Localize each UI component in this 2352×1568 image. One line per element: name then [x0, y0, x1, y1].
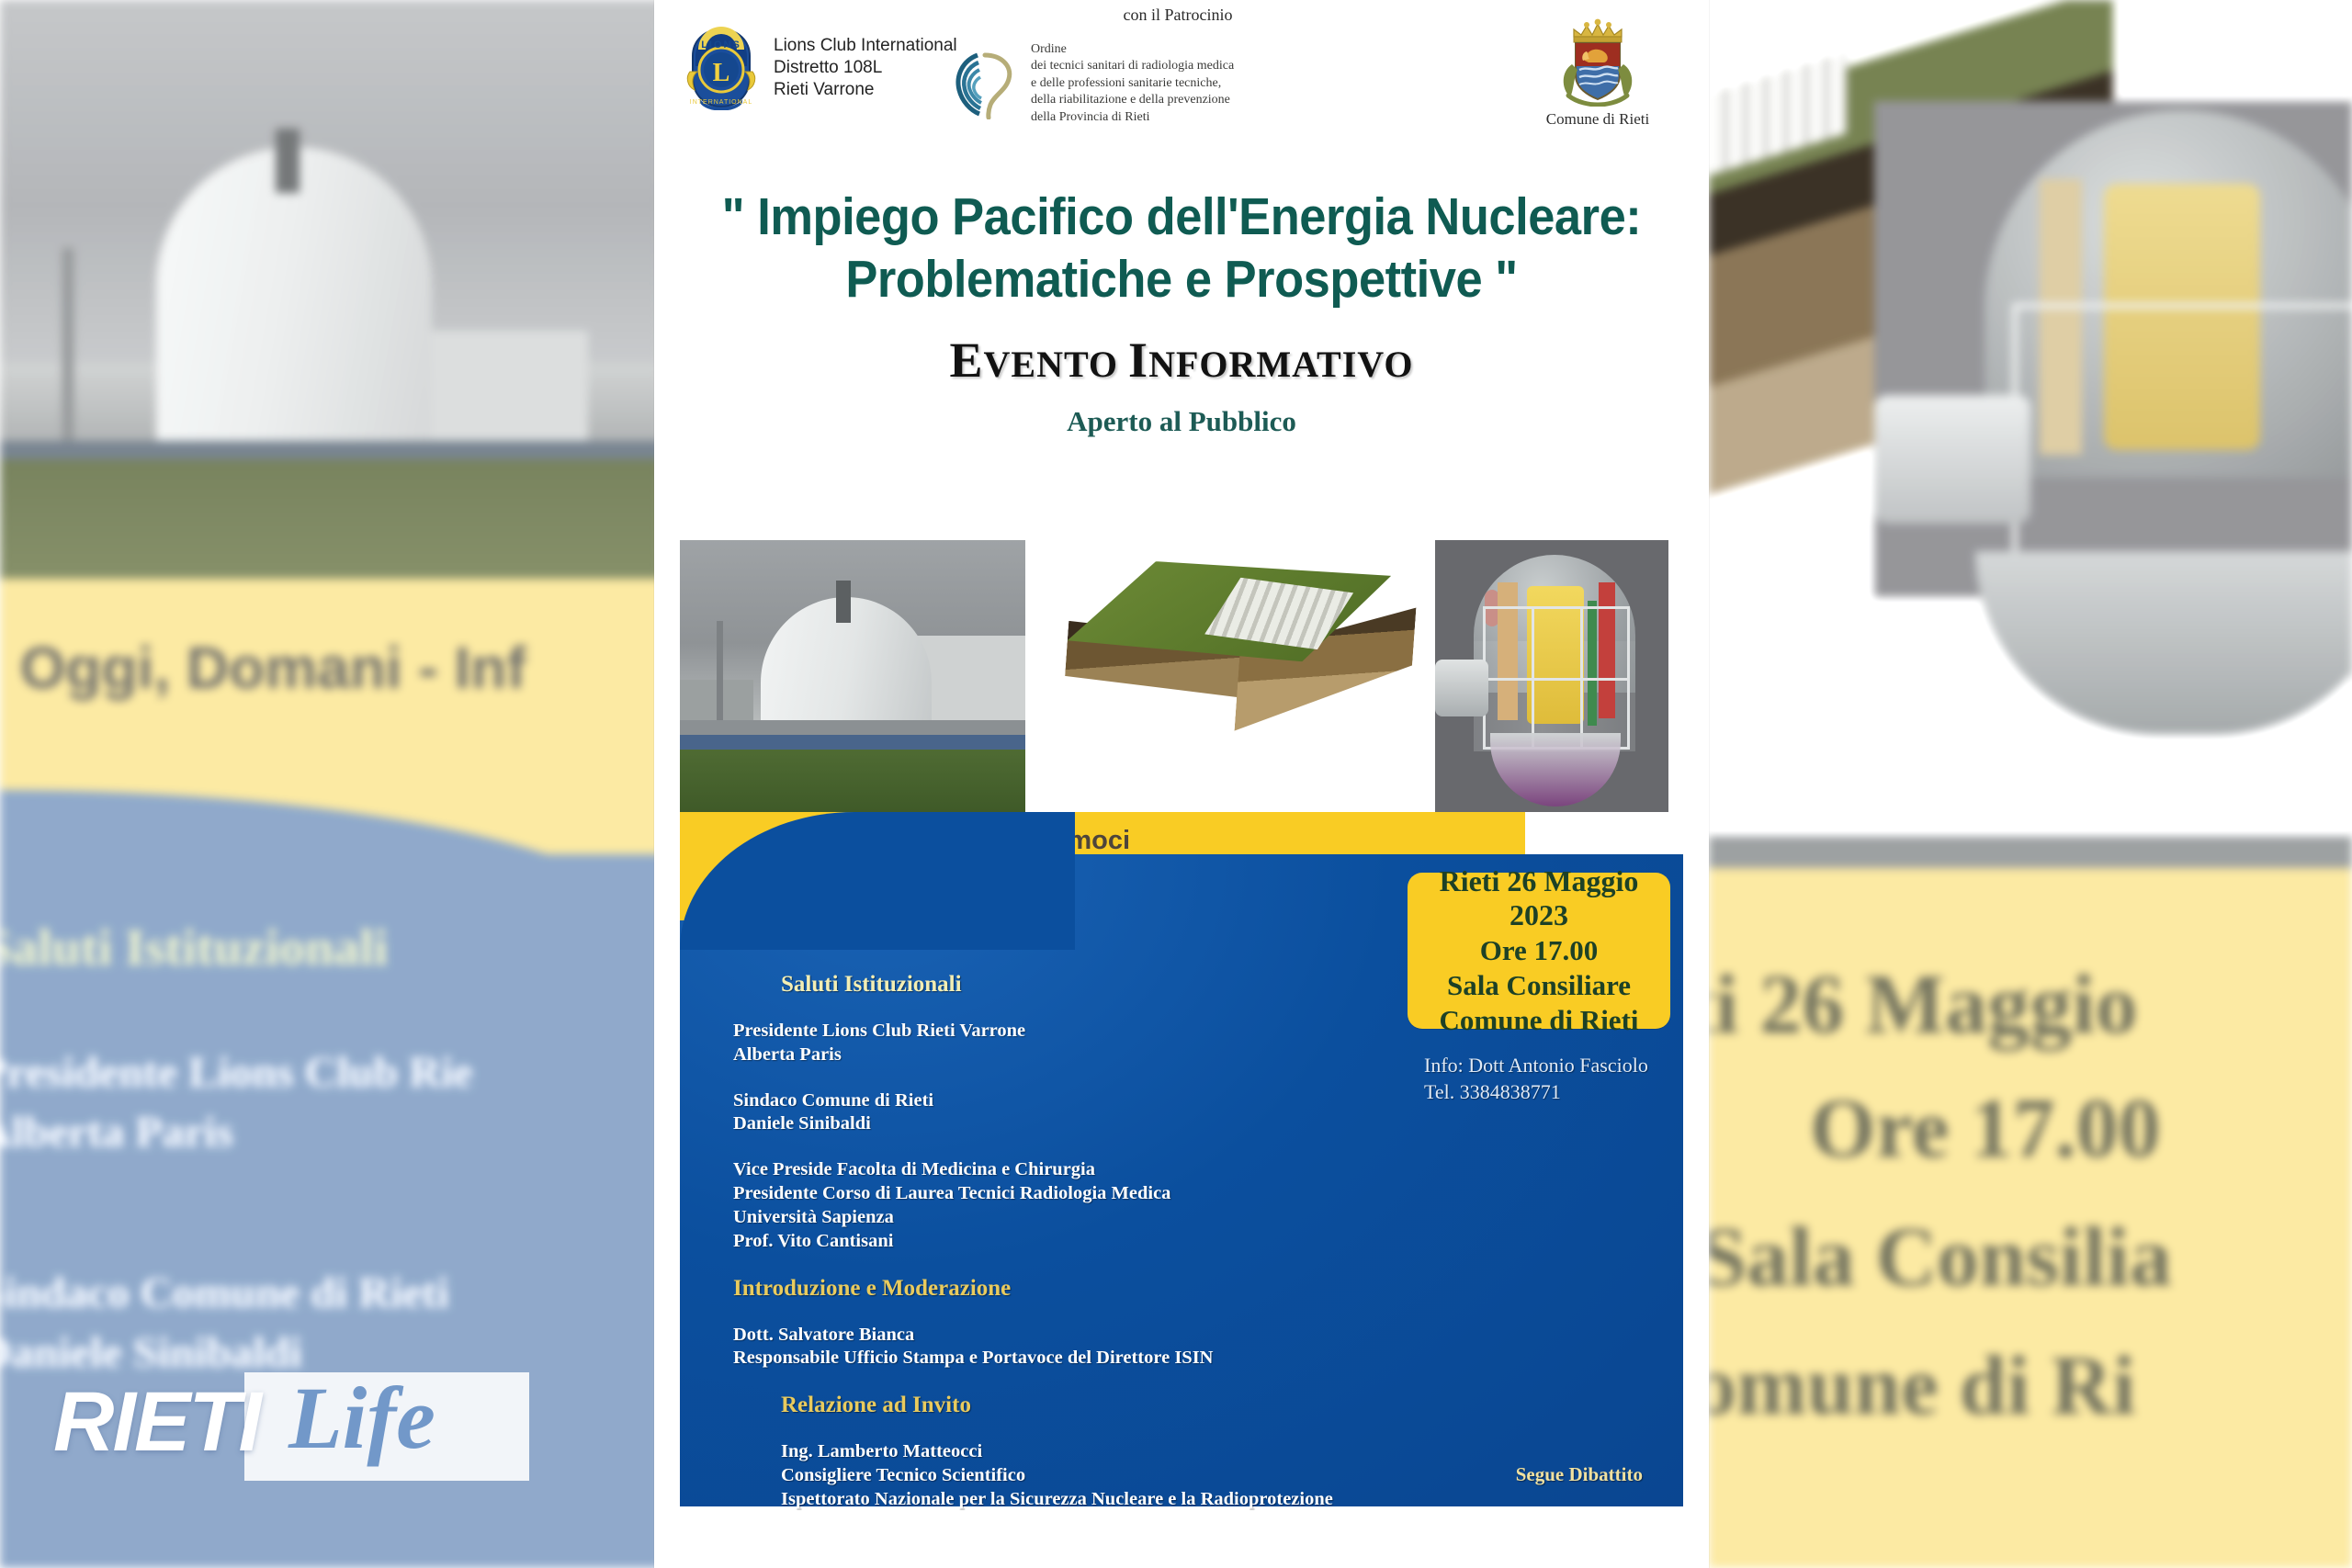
- entry-5-role-line-1: Consigliere Tecnico Scientifico: [781, 1464, 1395, 1488]
- programme-section-introduction: Introduzione e Moderazione: [733, 1276, 1395, 1302]
- watermark-script: Life: [288, 1367, 435, 1469]
- ordine-line-5: della Provincia di Rieti: [1031, 109, 1234, 126]
- entry-1-person: Alberta Paris: [733, 1043, 1395, 1067]
- event-venue-detail: Comune di Rieti: [1408, 1004, 1670, 1037]
- bg-left-line-1: Presidente Lions Club Rie: [0, 1047, 472, 1098]
- poster-title-block: " Impiego Pacifico dell'Energia Nucleare…: [654, 188, 1709, 438]
- event-type-label: EVENTO INFORMATIVO: [654, 332, 1709, 389]
- bg-right-line-1: ti 26 Maggio: [1709, 955, 2138, 1053]
- lions-club-emblem-icon: L LIONS INTERNATIONAL: [682, 26, 761, 110]
- poster-title-line-1: " Impiego Pacifico dell'Energia Nucleare…: [696, 188, 1667, 247]
- entry-4-person: Dott. Salvatore Bianca: [733, 1324, 1395, 1348]
- patrocinio-block: con il Patrocinio Ordine dei tecn: [930, 6, 1426, 126]
- entry-3-role-line-2: Presidente Corso di Laurea Tecnici Radio…: [733, 1182, 1395, 1206]
- programme-section-relazione: Relazione ad Invito: [733, 1393, 1395, 1418]
- reactor-vessel-cutaway: [1435, 540, 1668, 812]
- event-type-cap-1: E: [949, 333, 983, 388]
- background-left-blurred-poster: , Oggi, Domani - Inf Saluti Istituzional…: [0, 0, 661, 1568]
- reactor-coolant-nozzle: [1435, 660, 1488, 716]
- nuclear-power-plant-photo: [680, 540, 1025, 812]
- event-type-rest-2: NFORMATIVO: [1148, 344, 1413, 385]
- programme-entry-3: Vice Preside Facolta di Medicina e Chiru…: [733, 1158, 1395, 1253]
- entry-1-role: Presidente Lions Club Rieti Varrone: [733, 1020, 1395, 1043]
- poster-photo-strip: [680, 540, 1683, 812]
- ordine-line-2: dei tecnici sanitari di radiologia medic…: [1031, 58, 1234, 74]
- underground-repository-diagram: [1035, 540, 1420, 812]
- event-details-box: Rieti 26 Maggio 2023 Ore 17.00 Sala Cons…: [1408, 873, 1670, 1029]
- reactor-cage-ring-1: [1483, 678, 1630, 681]
- rieti-life-watermark: RIETI Life: [42, 1365, 529, 1486]
- bg-left-line-3: Sindaco Comune di Rieti: [0, 1268, 449, 1318]
- bg-right-line-2: Ore 17.00: [1810, 1079, 2161, 1177]
- event-time: Ore 17.00: [1408, 934, 1670, 967]
- entry-4-role: Responsabile Ufficio Stampa e Portavoce …: [733, 1347, 1395, 1371]
- event-date: Rieti 26 Maggio 2023: [1408, 864, 1670, 932]
- poster-header: L LIONS INTERNATIONAL Lions Club Interna…: [654, 0, 1709, 188]
- contact-info: Info: Dott Antonio Fasciolo Tel. 3384838…: [1424, 1053, 1681, 1105]
- entry-3-role-line-1: Vice Preside Facolta di Medicina e Chiru…: [733, 1158, 1395, 1182]
- bg-right-line-4: omune di Ri: [1709, 1337, 2136, 1434]
- patrocinio-label: con il Patrocinio: [930, 6, 1426, 25]
- entry-2-role: Sindaco Comune di Rieti: [733, 1089, 1395, 1113]
- entry-3-role-line-3: Università Sapienza: [733, 1206, 1395, 1230]
- programme-entry-4: Dott. Salvatore Bianca Responsabile Uffi…: [733, 1324, 1395, 1371]
- programme-notch: [680, 812, 1102, 963]
- programme-entry-5: Ing. Lamberto Matteocci Consigliere Tecn…: [781, 1440, 1395, 1511]
- svg-text:INTERNATIONAL: INTERNATIONAL: [690, 99, 753, 106]
- programme-content: Saluti Istituzionali Presidente Lions Cl…: [733, 972, 1395, 1534]
- programme-entry-1: Presidente Lions Club Rieti Varrone Albe…: [733, 1020, 1395, 1067]
- ordine-tsrm-emblem-icon: [950, 48, 1020, 119]
- ordine-row: Ordine dei tecnici sanitari di radiologi…: [930, 41, 1426, 126]
- lions-club-block: L LIONS INTERNATIONAL Lions Club Interna…: [682, 26, 957, 110]
- comune-di-rieti-coat-of-arms-icon: [1554, 9, 1642, 107]
- contact-phone: Tel. 3384838771: [1424, 1079, 1681, 1106]
- event-type-rest-1: VENTO: [984, 344, 1129, 385]
- programme-footer-note: Segue Dibattito: [1516, 1463, 1643, 1486]
- comune-block: Comune di Rieti: [1510, 9, 1685, 129]
- repository-block: [1060, 545, 1394, 749]
- section-heading-relazione: Relazione ad Invito: [781, 1393, 1395, 1418]
- ordine-text: Ordine dei tecnici sanitari di radiologi…: [1031, 41, 1234, 126]
- poster-title-line-2: Problematiche e Prospettive ": [696, 251, 1667, 310]
- watermark-brand: RIETI: [53, 1374, 260, 1471]
- section-heading-introduzione: Introduzione e Moderazione: [733, 1276, 1395, 1302]
- entry-3-person: Prof. Vito Cantisani: [733, 1230, 1395, 1254]
- bg-right-coolant-pipe: [1874, 395, 2030, 524]
- entry-2-person: Daniele Sinibaldi: [733, 1112, 1395, 1136]
- svg-text:L: L: [713, 59, 730, 87]
- bg-left-mast: [62, 248, 73, 450]
- poster-screenshot: , Oggi, Domani - Inf Saluti Istituzional…: [0, 0, 2352, 1568]
- plant-stack: [836, 581, 851, 623]
- ordine-line-4: della riabilitazione e della prevenzione: [1031, 92, 1234, 108]
- bg-left-grass: [0, 459, 661, 597]
- ordine-line-1: Ordine: [1031, 41, 1234, 58]
- event-venue: Sala Consiliare: [1408, 969, 1670, 1002]
- ordine-line-3: e delle professioni sanitarie tecniche,: [1031, 75, 1234, 92]
- bg-left-line-2: Alberta Paris: [0, 1107, 233, 1157]
- entry-5-person: Ing. Lamberto Matteocci: [781, 1440, 1395, 1464]
- background-right-blurred-poster: ti 26 Maggio Ore 17.00 Sala Consilia omu…: [1709, 0, 2352, 1568]
- section-heading-saluti: Saluti Istituzionali: [781, 972, 1395, 998]
- svg-text:LIONS: LIONS: [701, 39, 741, 51]
- bg-left-stack: [276, 129, 300, 193]
- programme-section-greetings: Saluti Istituzionali: [733, 972, 1395, 998]
- event-type-cap-2: I: [1128, 333, 1148, 388]
- contact-name: Info: Dott Antonio Fasciolo: [1424, 1053, 1681, 1079]
- bg-right-line-3: Sala Consilia: [1709, 1208, 2172, 1305]
- event-poster: L LIONS INTERNATIONAL Lions Club Interna…: [654, 0, 1709, 1568]
- programme-entry-2: Sindaco Comune di Rieti Daniele Sinibald…: [733, 1089, 1395, 1137]
- bg-left-section-heading: Saluti Istituzionali: [0, 919, 388, 977]
- plant-grass: [680, 750, 1025, 812]
- open-to-public-label: Aperto al Pubblico: [654, 405, 1709, 438]
- comune-label: Comune di Rieti: [1510, 110, 1685, 129]
- entry-5-role-line-2: Ispettorato Nazionale per la Sicurezza N…: [781, 1488, 1395, 1512]
- bg-left-tagline: , Oggi, Domani - Inf: [0, 634, 526, 702]
